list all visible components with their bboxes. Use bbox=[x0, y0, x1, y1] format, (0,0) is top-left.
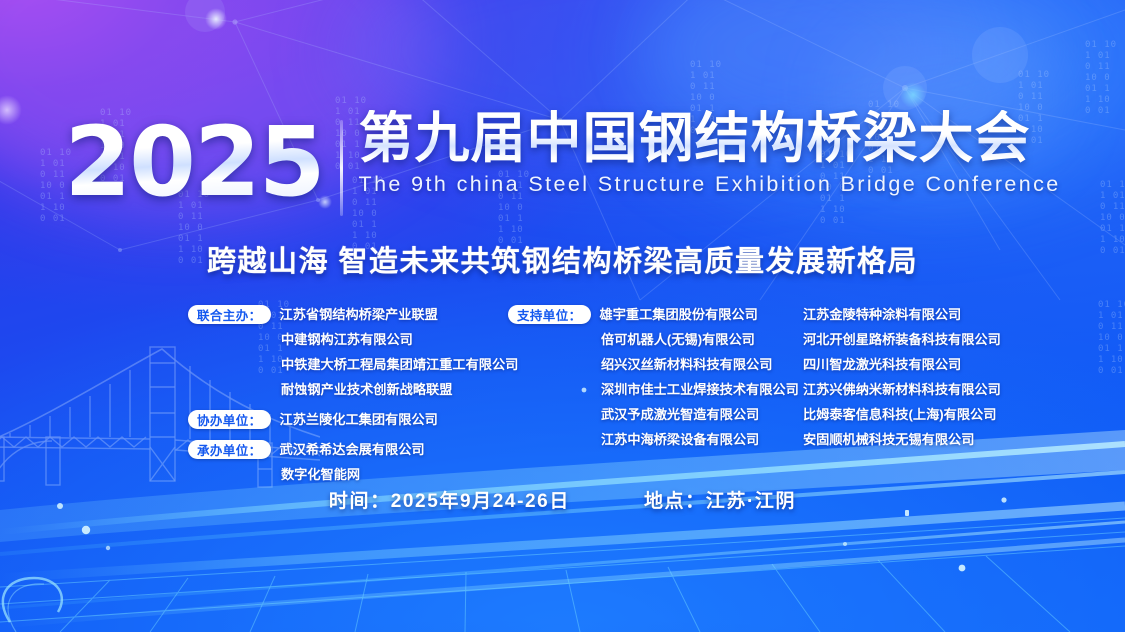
organizer-row: 四川智龙激光科技有限公司 bbox=[803, 353, 1068, 377]
title-divider bbox=[340, 120, 343, 216]
organizer-name: 江苏兰陵化工集团有限公司 bbox=[280, 408, 438, 432]
organizer-name: 中建钢构江苏有限公司 bbox=[188, 328, 413, 352]
organizer-name: 江苏省钢结构桥梁产业联盟 bbox=[280, 303, 438, 327]
title-english: The 9th china Steel Structure Exhibition… bbox=[359, 172, 1061, 197]
supporter-name: 倍可机器人(无锡)有限公司 bbox=[508, 328, 755, 352]
organizer-row: 支持单位： 雄宇重工集团股份有限公司 bbox=[508, 303, 798, 327]
supporter-name: 江苏兴佛纳米新材料科技有限公司 bbox=[803, 378, 1001, 402]
badge-undertaker: 承办单位： bbox=[188, 440, 271, 459]
event-date: 时间：2025年9月24-26日 bbox=[329, 486, 570, 513]
year-2025: 2025 bbox=[64, 116, 339, 208]
supporter-name: 武汉予成激光智造有限公司 bbox=[508, 403, 759, 427]
organizers-column-left: 联合主办： 江苏省钢结构桥梁产业联盟 中建钢构江苏有限公司 中铁建大桥工程局集团… bbox=[188, 303, 498, 488]
title-chinese: 第九届中国钢结构桥梁大会 bbox=[359, 110, 1061, 168]
organizer-row: 江苏金陵特种涂料有限公司 bbox=[803, 303, 1068, 327]
supporter-name: 深圳市佳士工业焊接技术有限公司 bbox=[508, 378, 799, 402]
organizers-column-right: 江苏金陵特种涂料有限公司 河北开创星路桥装备科技有限公司 四川智龙激光科技有限公… bbox=[803, 303, 1068, 453]
organizer-row: 江苏中海桥梁设备有限公司 bbox=[508, 428, 798, 452]
organizer-row: 绍兴汉丝新材料科技有限公司 bbox=[508, 353, 798, 377]
organizer-row: 武汉予成激光智造有限公司 bbox=[508, 403, 798, 427]
organizer-row: 比姆泰客信息科技(上海)有限公司 bbox=[803, 403, 1068, 427]
event-meta: 时间：2025年9月24-26日 地点：江苏·江阴 bbox=[0, 486, 1125, 513]
organizer-row: 耐蚀钢产业技术创新战略联盟 bbox=[188, 378, 498, 402]
organizer-row: 承办单位： 武汉希希达会展有限公司 bbox=[188, 438, 498, 462]
slogan: 跨越山海 智造未来共筑钢结构桥梁高质量发展新格局 bbox=[0, 238, 1125, 280]
supporter-name: 比姆泰客信息科技(上海)有限公司 bbox=[803, 403, 996, 427]
organizers-column-mid: 支持单位： 雄宇重工集团股份有限公司 倍可机器人(无锡)有限公司 绍兴汉丝新材料… bbox=[508, 303, 798, 453]
title-block: 2025 第九届中国钢结构桥梁大会 The 9th china Steel St… bbox=[0, 110, 1125, 216]
organizer-row: 联合主办： 江苏省钢结构桥梁产业联盟 bbox=[188, 303, 498, 327]
organizer-name: 武汉希希达会展有限公司 bbox=[280, 438, 425, 462]
badge-supporter: 支持单位： bbox=[508, 305, 591, 324]
badge-co-organizer: 协办单位： bbox=[188, 410, 271, 429]
organizer-row: 河北开创星路桥装备科技有限公司 bbox=[803, 328, 1068, 352]
organizer-name: 中铁建大桥工程局集团靖江重工有限公司 bbox=[188, 353, 518, 377]
organizer-name: 耐蚀钢产业技术创新战略联盟 bbox=[188, 378, 452, 402]
event-location: 地点：江苏·江阴 bbox=[644, 486, 796, 513]
supporter-name: 安固顺机械科技无锡有限公司 bbox=[803, 428, 974, 452]
supporter-name: 雄宇重工集团股份有限公司 bbox=[600, 303, 758, 327]
organizer-name: 数字化智能网 bbox=[188, 463, 360, 487]
supporter-name: 四川智龙激光科技有限公司 bbox=[803, 353, 961, 377]
organizer-row: 数字化智能网 bbox=[188, 463, 498, 487]
organizer-row: 协办单位： 江苏兰陵化工集团有限公司 bbox=[188, 408, 498, 432]
organizer-row: 江苏兴佛纳米新材料科技有限公司 bbox=[803, 378, 1068, 402]
badge-joint-host: 联合主办： bbox=[188, 305, 271, 324]
conference-banner: 01 10 1 01 0 11 10 0 01 1 1 10 0 01 01 1… bbox=[0, 0, 1125, 632]
organizer-row: 深圳市佳士工业焊接技术有限公司 bbox=[508, 378, 798, 402]
supporter-name: 江苏金陵特种涂料有限公司 bbox=[803, 303, 961, 327]
supporter-name: 绍兴汉丝新材料科技有限公司 bbox=[508, 353, 772, 377]
organizer-row: 安固顺机械科技无锡有限公司 bbox=[803, 428, 1068, 452]
organizer-row: 倍可机器人(无锡)有限公司 bbox=[508, 328, 798, 352]
supporter-name: 河北开创星路桥装备科技有限公司 bbox=[803, 328, 1001, 352]
organizer-row: 中铁建大桥工程局集团靖江重工有限公司 bbox=[188, 353, 498, 377]
organizer-row: 中建钢构江苏有限公司 bbox=[188, 328, 498, 352]
supporter-name: 江苏中海桥梁设备有限公司 bbox=[508, 428, 759, 452]
